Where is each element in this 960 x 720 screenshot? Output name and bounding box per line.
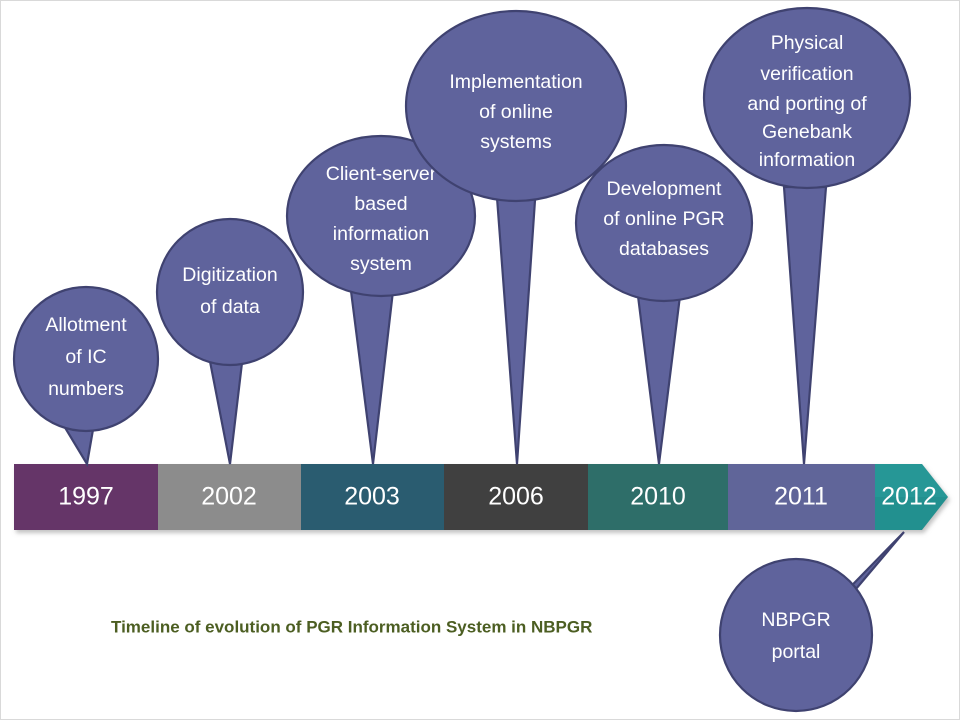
callout-2012[interactable]: NBPGR portal — [720, 532, 904, 711]
callout-2002-bubble — [157, 219, 303, 365]
callout-2011-line-4: Genebank — [762, 121, 852, 143]
year-label-2011: 2011 — [774, 483, 828, 511]
callout-2003-line-3: information — [333, 223, 429, 245]
callout-2003-line-2: based — [354, 193, 407, 215]
callout-2012-line-2: portal — [772, 641, 821, 663]
callout-2006-line-3: systems — [480, 131, 552, 153]
callout-2006-tail — [495, 171, 537, 464]
callout-2002-line-1: Digitization — [182, 264, 277, 286]
callout-2010-line-2: of online PGR — [603, 208, 724, 230]
callout-2002-line-2: of data — [200, 296, 260, 318]
callout-2011-line-1: Physical — [771, 32, 844, 54]
year-label-2003: 2003 — [344, 483, 400, 511]
year-label-2006: 2006 — [488, 483, 544, 511]
callout-1997-line-3: numbers — [48, 378, 124, 400]
callout-2011-line-2: verification — [760, 63, 853, 85]
callout-2006-line-1: Implementation — [449, 71, 582, 93]
figure-caption: Timeline of evolution of PGR Information… — [111, 617, 592, 636]
callout-2003[interactable]: Client-server based information system — [287, 136, 475, 464]
callout-2012-bubble — [720, 559, 872, 711]
callout-2010[interactable]: Development of online PGR databases — [576, 145, 752, 464]
year-label-1997: 1997 — [58, 483, 114, 511]
year-label-2012: 2012 — [881, 483, 937, 511]
callout-2003-line-1: Client-server — [326, 163, 437, 185]
callout-1997[interactable]: Allotment of IC numbers — [14, 287, 158, 464]
callout-2011-line-3: and porting of — [747, 93, 867, 115]
callout-2012-line-1: NBPGR — [761, 609, 830, 631]
timeline-diagram: 1997 2002 2003 2006 2010 2011 2012 Allot… — [0, 0, 960, 720]
callout-2006-line-2: of online — [479, 101, 553, 123]
callout-2003-tail — [351, 291, 393, 464]
callout-2010-line-1: Development — [607, 178, 722, 200]
callout-2011-tail — [784, 187, 826, 464]
year-label-2010: 2010 — [630, 483, 686, 511]
callout-2010-tail — [638, 296, 680, 464]
callout-2002[interactable]: Digitization of data — [157, 219, 303, 464]
callout-2011-line-5: information — [759, 149, 855, 171]
timeline-svg: 1997 2002 2003 2006 2010 2011 2012 Allot… — [1, 1, 960, 720]
year-label-2002: 2002 — [201, 483, 257, 511]
callout-2010-line-3: databases — [619, 238, 709, 260]
callout-1997-line-2: of IC — [65, 346, 106, 368]
callout-2003-line-4: system — [350, 253, 412, 275]
callout-1997-line-1: Allotment — [45, 314, 127, 336]
